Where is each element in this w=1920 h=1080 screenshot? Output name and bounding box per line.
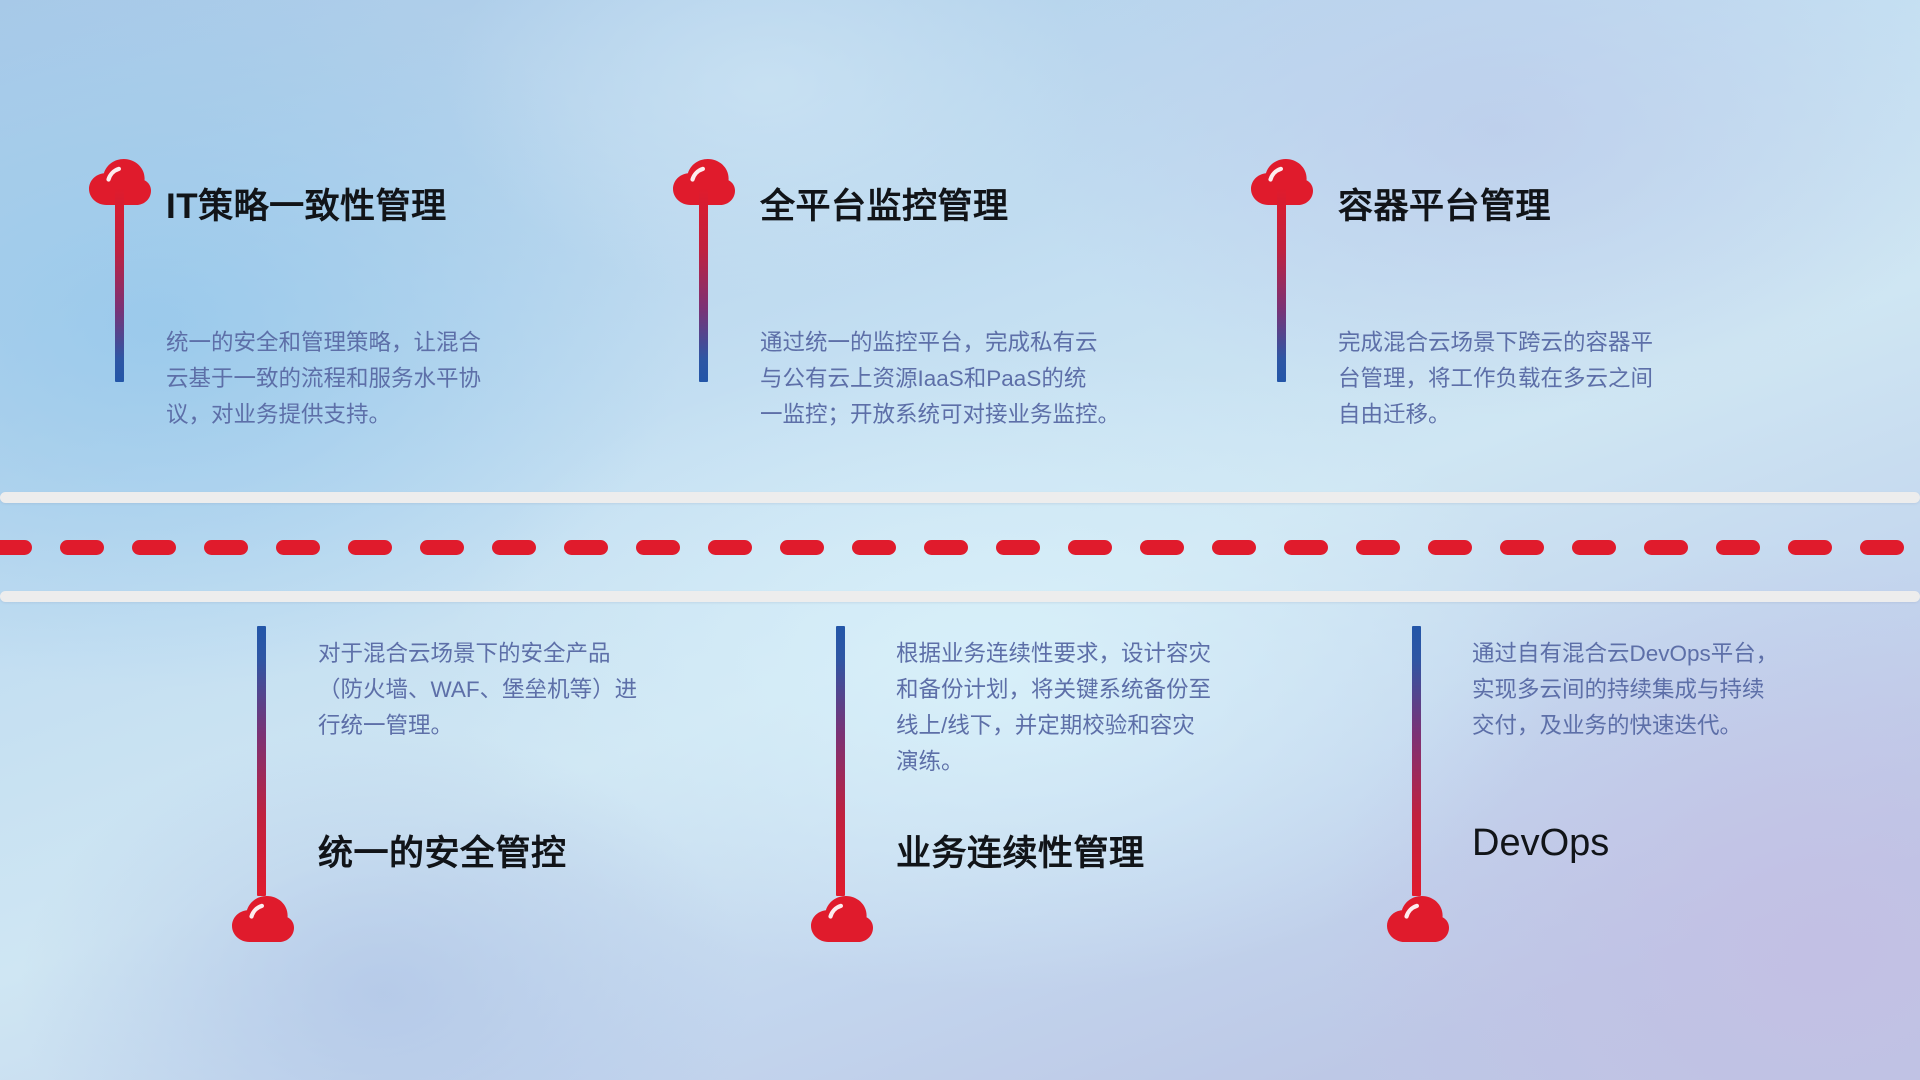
road-dash-segment [204,540,248,555]
road-dash-segment [1500,540,1544,555]
road-dash-segment [60,540,104,555]
road-dash-segment [1716,540,1760,555]
card-body: 通过自有混合云DevOps平台， 实现多云间的持续集成与持续 交付，及业务的快速… [1472,636,1882,744]
card-body: 统一的安全和管理策略，让混合 云基于一致的流程和服务水平协 议，对业务提供支持。 [166,325,566,433]
cloud-icon [1386,895,1450,943]
road-dash-segment [1356,540,1400,555]
road-dash-segment [996,540,1040,555]
road-dash-segment [852,540,896,555]
stem-connector [257,626,266,896]
road-dash-segment [1572,540,1616,555]
cloud-icon [231,895,295,943]
stem-connector [699,188,708,382]
road-dash-segment [492,540,536,555]
road-divider [0,492,1920,602]
road-dash-segment [780,540,824,555]
road-dash-segment [636,540,680,555]
road-dash-segment [420,540,464,555]
card-body: 通过统一的监控平台，完成私有云 与公有云上资源IaaS和PaaS的统 一监控；开… [760,325,1190,433]
road-dash-segment [1284,540,1328,555]
road-dash-segment [708,540,752,555]
road-dash-segment [1428,540,1472,555]
road-dash-segment [1212,540,1256,555]
road-dash-segment [276,540,320,555]
road-edge-bottom [0,591,1920,602]
card-title: 全平台监控管理 [760,178,1009,229]
card-body: 对于混合云场景下的安全产品 （防火墙、WAF、堡垒机等）进 行统一管理。 [318,636,718,744]
road-dash-segment [1140,540,1184,555]
road-dash-segment [924,540,968,555]
stem-connector [1277,188,1286,382]
road-dash-segment [132,540,176,555]
card-title: 业务连续性管理 [896,825,1145,876]
road-edge-top [0,492,1920,503]
stem-connector [115,188,124,382]
road-dash-segment [348,540,392,555]
road-dash-segment [1644,540,1688,555]
card-title: 统一的安全管控 [318,825,567,876]
cloud-icon [810,895,874,943]
card-title: IT策略一致性管理 [166,178,447,229]
stem-connector [836,626,845,896]
card-body: 根据业务连续性要求，设计容灾 和备份计划，将关键系统备份至 线上/线下，并定期校… [896,636,1316,780]
road-dash-segment [1068,540,1112,555]
card-title: DevOps [1472,822,1609,865]
card-body: 完成混合云场景下跨云的容器平 台管理，将工作负载在多云之间 自由迁移。 [1338,325,1738,433]
road-center-dashes [0,540,1920,555]
road-dash-segment [0,540,32,555]
card-title: 容器平台管理 [1338,178,1551,229]
stem-connector [1412,626,1421,896]
road-dash-segment [1788,540,1832,555]
road-dash-segment [564,540,608,555]
infographic-canvas: IT策略一致性管理 统一的安全和管理策略，让混合 云基于一致的流程和服务水平协 … [0,0,1920,1080]
road-dash-segment [1860,540,1904,555]
